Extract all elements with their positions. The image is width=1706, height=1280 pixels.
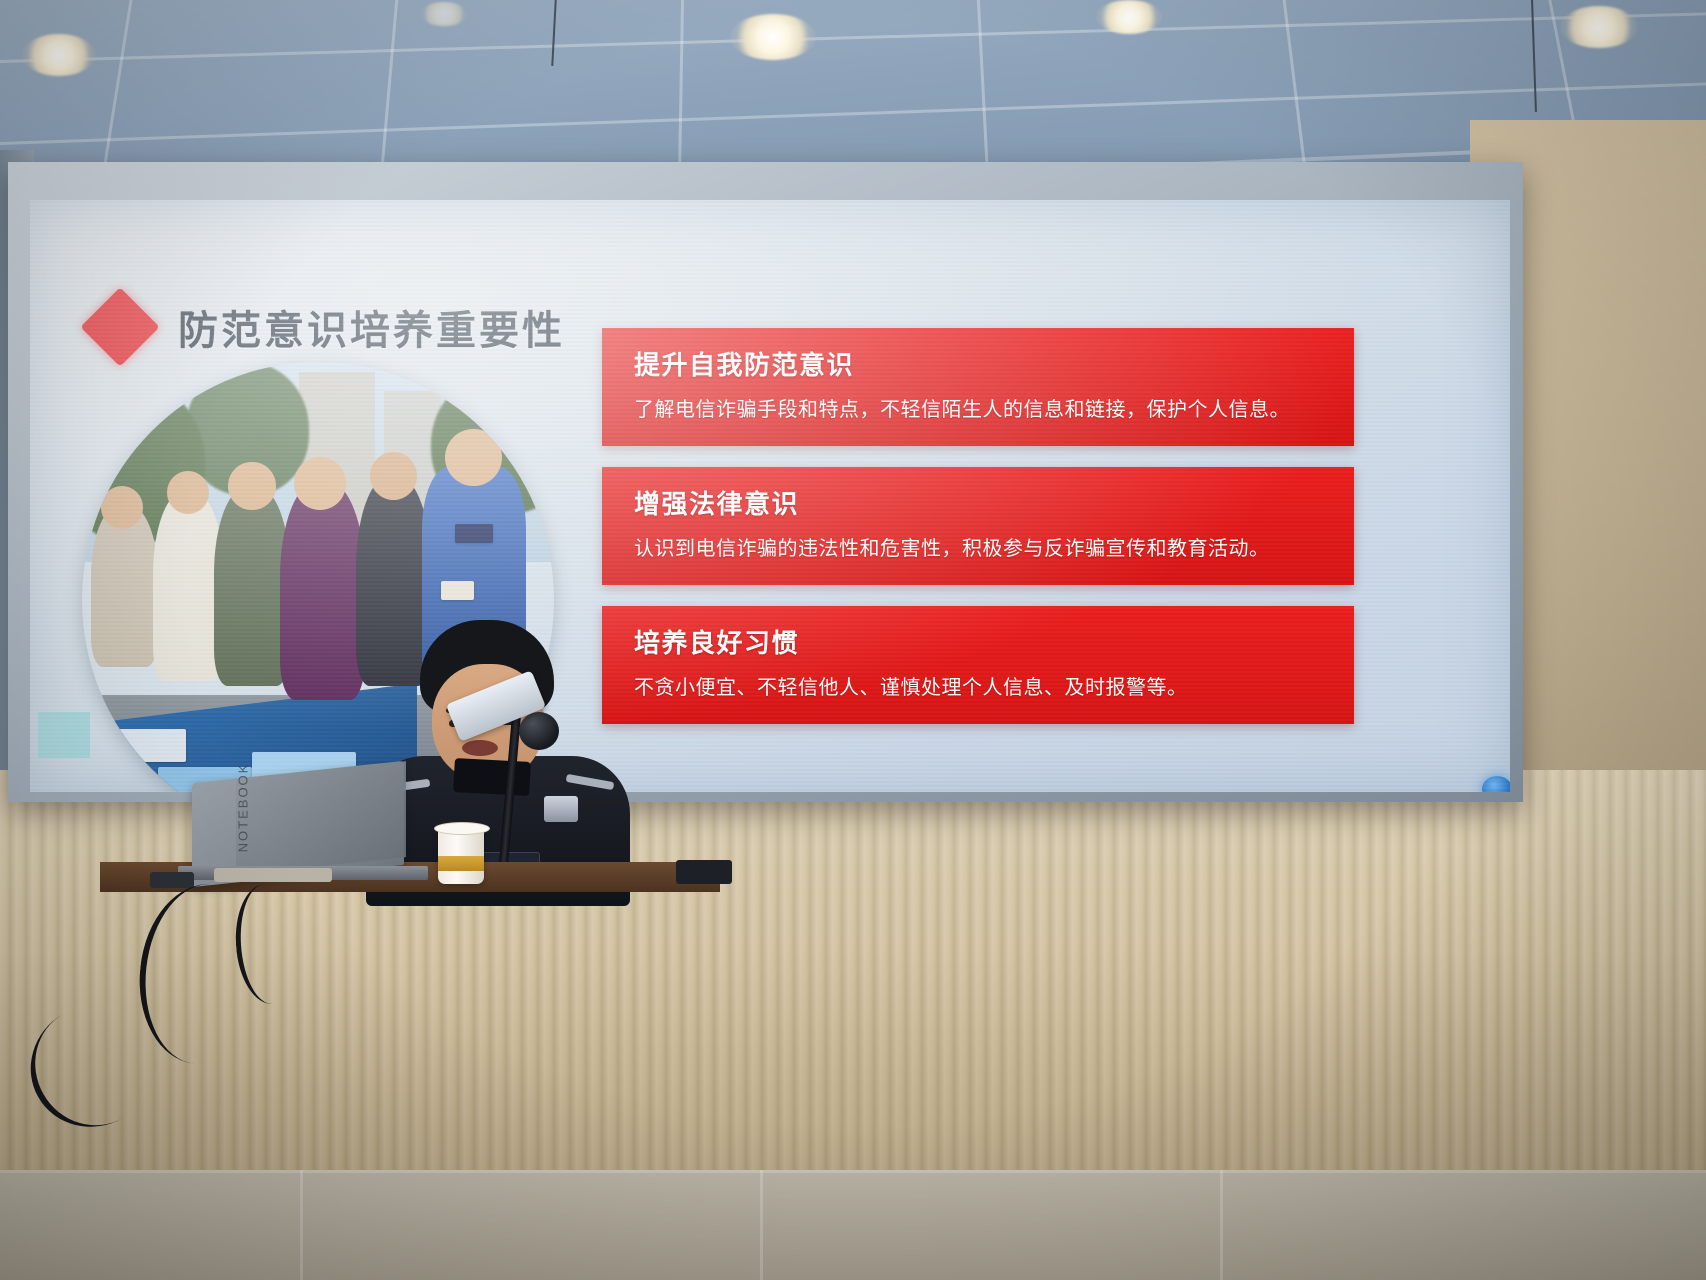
coffee-cup-rim [434, 822, 490, 835]
collar [453, 758, 531, 796]
block-title: 培养良好习惯 [634, 623, 1328, 660]
content-block[interactable]: 增强法律意识 认识到电信诈骗的违法性和危害性，积极参与反诈骗宣传和教育活动。 [602, 467, 1354, 585]
ceiling-light [730, 14, 816, 60]
block-title: 提升自我防范意识 [634, 345, 1328, 382]
block-title: 增强法律意识 [634, 484, 1328, 521]
content-block[interactable]: 培养良好习惯 不贪小便宜、不轻信他人、谨慎处理个人信息、及时报警等。 [602, 606, 1354, 724]
ceiling-light [1096, 0, 1162, 34]
microphone-joint [519, 712, 559, 750]
screen-indicator-dot [1482, 776, 1510, 792]
content-block[interactable]: 提升自我防范意识 了解电信诈骗手段和特点，不轻信陌生人的信息和链接，保护个人信息… [602, 328, 1354, 446]
slide-content-blocks: 提升自我防范意识 了解电信诈骗手段和特点，不轻信陌生人的信息和链接，保护个人信息… [602, 328, 1354, 745]
remote-control[interactable] [676, 860, 732, 884]
uniform-badge [544, 796, 578, 822]
mouth [462, 740, 498, 756]
coffee-cup-band [438, 856, 484, 871]
ceiling-light [420, 2, 468, 26]
laptop-brand-label: NOTEBOOK [235, 763, 250, 853]
desk-device [150, 872, 194, 888]
conference-room-scene: 防范意识培养重要性 [0, 0, 1706, 1280]
desk-paper [214, 868, 332, 882]
red-diamond-icon [80, 287, 159, 366]
slide-title-row: 防范意识培养重要性 [92, 298, 565, 356]
block-body: 不贪小便宜、不轻信他人、谨慎处理个人信息、及时报警等。 [634, 672, 1328, 703]
laptop-back-panel [236, 761, 406, 875]
led-screen-bezel: 防范意识培养重要性 [8, 162, 1523, 802]
page-title: 防范意识培养重要性 [178, 298, 565, 356]
presentation-screen[interactable]: 防范意识培养重要性 [30, 200, 1510, 792]
floor [0, 1170, 1706, 1280]
block-body: 了解电信诈骗手段和特点，不轻信陌生人的信息和链接，保护个人信息。 [634, 394, 1328, 425]
ceiling-light [22, 34, 96, 76]
ceiling-light [1560, 6, 1638, 48]
block-body: 认识到电信诈骗的违法性和危害性，积极参与反诈骗宣传和教育活动。 [634, 533, 1328, 564]
